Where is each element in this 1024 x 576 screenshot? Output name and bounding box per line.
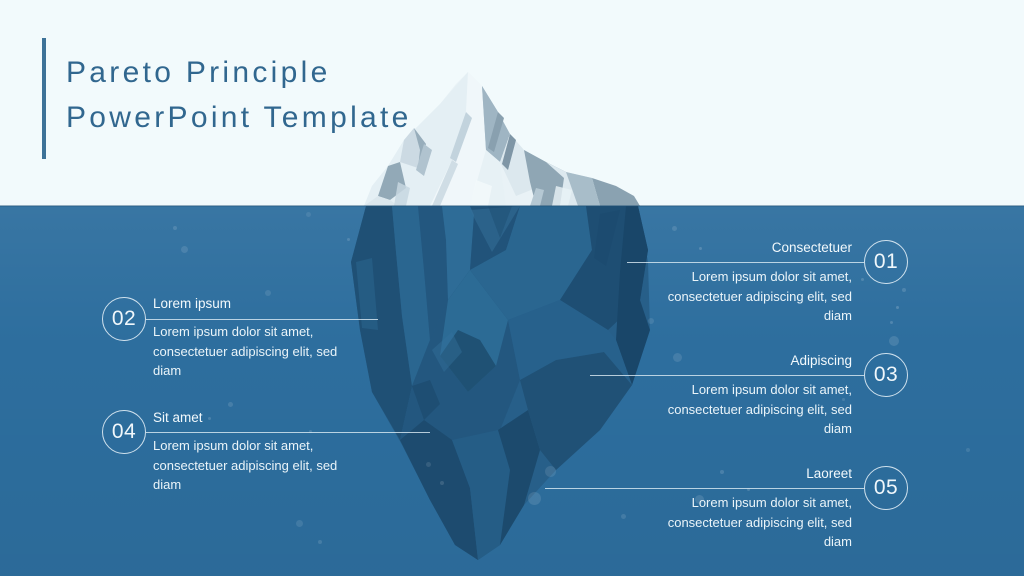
bubble [181, 246, 188, 253]
callout-01-body: Lorem ipsum dolor sit amet, consectetuer… [640, 267, 852, 326]
callout-02-leader-line [146, 319, 378, 320]
bubble [347, 238, 350, 241]
callout-01-title: Consectetuer [610, 240, 852, 255]
page-title: Pareto Principle PowerPoint Template [66, 50, 626, 140]
bubble [545, 466, 556, 477]
callout-04-number: 04 [112, 420, 136, 444]
iceberg-underwater [351, 206, 650, 560]
bubble [306, 212, 311, 217]
bubble [861, 278, 864, 281]
callout-04-leader-line [146, 432, 430, 433]
callout-05-number-badge[interactable]: 05 [864, 466, 908, 510]
callout-03-title: Adipiscing [610, 353, 852, 368]
callout-03-number: 03 [874, 363, 898, 387]
callout-05-leader-line [545, 488, 864, 489]
callout-02-number-badge[interactable]: 02 [102, 297, 146, 341]
callout-02-title: Lorem ipsum [153, 296, 393, 311]
bubble [902, 288, 906, 292]
callout-04-body: Lorem ipsum dolor sit amet, consectetuer… [153, 436, 353, 495]
callout-03-number-badge[interactable]: 03 [864, 353, 908, 397]
bubble [440, 481, 444, 485]
callout-01-number-badge[interactable]: 01 [864, 240, 908, 284]
callout-01-number: 01 [874, 250, 898, 274]
bubble [672, 226, 677, 231]
callout-04-title: Sit amet [153, 410, 393, 425]
bubble [889, 336, 899, 346]
callout-03-body: Lorem ipsum dolor sit amet, consectetuer… [640, 380, 852, 439]
callout-05-title: Laoreet [610, 466, 852, 481]
callout-02-number: 02 [112, 307, 136, 331]
page-title-line-1: Pareto Principle [66, 50, 626, 95]
title-accent-bar [42, 38, 46, 159]
bubble [318, 540, 322, 544]
callout-05-body: Lorem ipsum dolor sit amet, consectetuer… [640, 493, 852, 552]
bubble [890, 321, 893, 324]
slide-canvas: Pareto Principle PowerPoint Template 01 … [0, 0, 1024, 576]
bubble [966, 448, 970, 452]
bubble [896, 306, 899, 309]
bubble [426, 462, 431, 467]
page-title-line-2: PowerPoint Template [66, 95, 626, 140]
bubble [228, 402, 233, 407]
bubble [296, 520, 303, 527]
callout-04-number-badge[interactable]: 04 [102, 410, 146, 454]
bubble [621, 514, 626, 519]
callout-01-leader-line [627, 262, 864, 263]
bubble [528, 492, 541, 505]
callout-05-number: 05 [874, 476, 898, 500]
bubble [173, 226, 177, 230]
waterline [0, 205, 1024, 207]
callout-02-body: Lorem ipsum dolor sit amet, consectetuer… [153, 322, 353, 381]
callout-03-leader-line [590, 375, 864, 376]
